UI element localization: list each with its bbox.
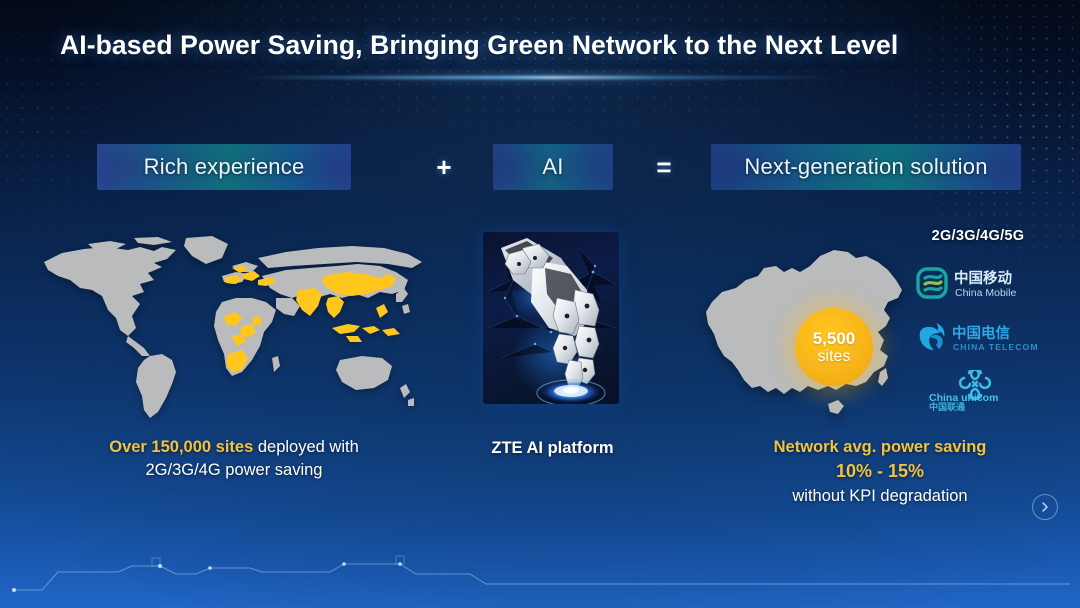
next-slide-button[interactable]	[1032, 494, 1058, 520]
left-caption-highlight: Over 150,000 sites	[109, 438, 253, 456]
china-unicom-cn: 中国联通	[929, 401, 965, 412]
network-generations-label: 2G/3G/4G/5G	[908, 228, 1048, 244]
middle-panel-caption: ZTE AI platform	[455, 437, 650, 460]
right-panel-caption: Network avg. power saving 10% - 15% with…	[735, 436, 1025, 508]
circuit-line-decoration	[0, 518, 1080, 608]
chevron-right-icon	[1040, 501, 1050, 513]
slide-title: AI-based Power Saving, Bringing Green Ne…	[60, 30, 1020, 61]
equation-operator-plus: +	[420, 144, 468, 190]
china-telecom-logo: 中国电信 CHINA TELECOM	[908, 316, 1048, 360]
robot-hand-image	[483, 232, 619, 404]
right-caption-line2: 10% - 15%	[735, 459, 1025, 485]
china-mobile-logo: 中国移动 China Mobile	[908, 261, 1048, 305]
left-caption-line2: 2G/3G/4G power saving	[44, 459, 424, 482]
world-map-graphic	[36, 232, 436, 422]
site-count-bubble: 5,500 sites	[795, 308, 873, 386]
equation-band: Rich experience + AI = Next-generation s…	[0, 144, 1080, 190]
china-mobile-en: China Mobile	[955, 287, 1016, 299]
operator-logo-column: 2G/3G/4G/5G 中国移动 China Mobile 中国电信 CHINA…	[908, 228, 1048, 413]
china-unicom-logo: China unicom 中国联通	[908, 369, 1048, 413]
left-caption-line1: Over 150,000 sites deployed with	[44, 436, 424, 459]
left-caption-rest: deployed with	[253, 438, 359, 456]
right-caption-line1: Network avg. power saving	[735, 436, 1025, 459]
equation-term-rich-experience: Rich experience	[97, 144, 351, 190]
title-underline-glow	[240, 76, 840, 79]
china-telecom-cn: 中国电信	[952, 324, 1010, 342]
right-caption-line3: without KPI degradation	[735, 485, 1025, 508]
left-panel-caption: Over 150,000 sites deployed with 2G/3G/4…	[44, 436, 424, 483]
bubble-value: 5,500	[813, 329, 856, 348]
bubble-unit: sites	[818, 348, 851, 366]
equation-operator-equals: =	[640, 144, 688, 190]
slide-canvas: AI-based Power Saving, Bringing Green Ne…	[0, 0, 1080, 608]
china-mobile-cn: 中国移动	[954, 269, 1012, 287]
equation-term-ai: AI	[493, 144, 613, 190]
china-telecom-en: CHINA TELECOM	[953, 342, 1039, 352]
equation-term-next-generation-solution: Next-generation solution	[711, 144, 1021, 190]
